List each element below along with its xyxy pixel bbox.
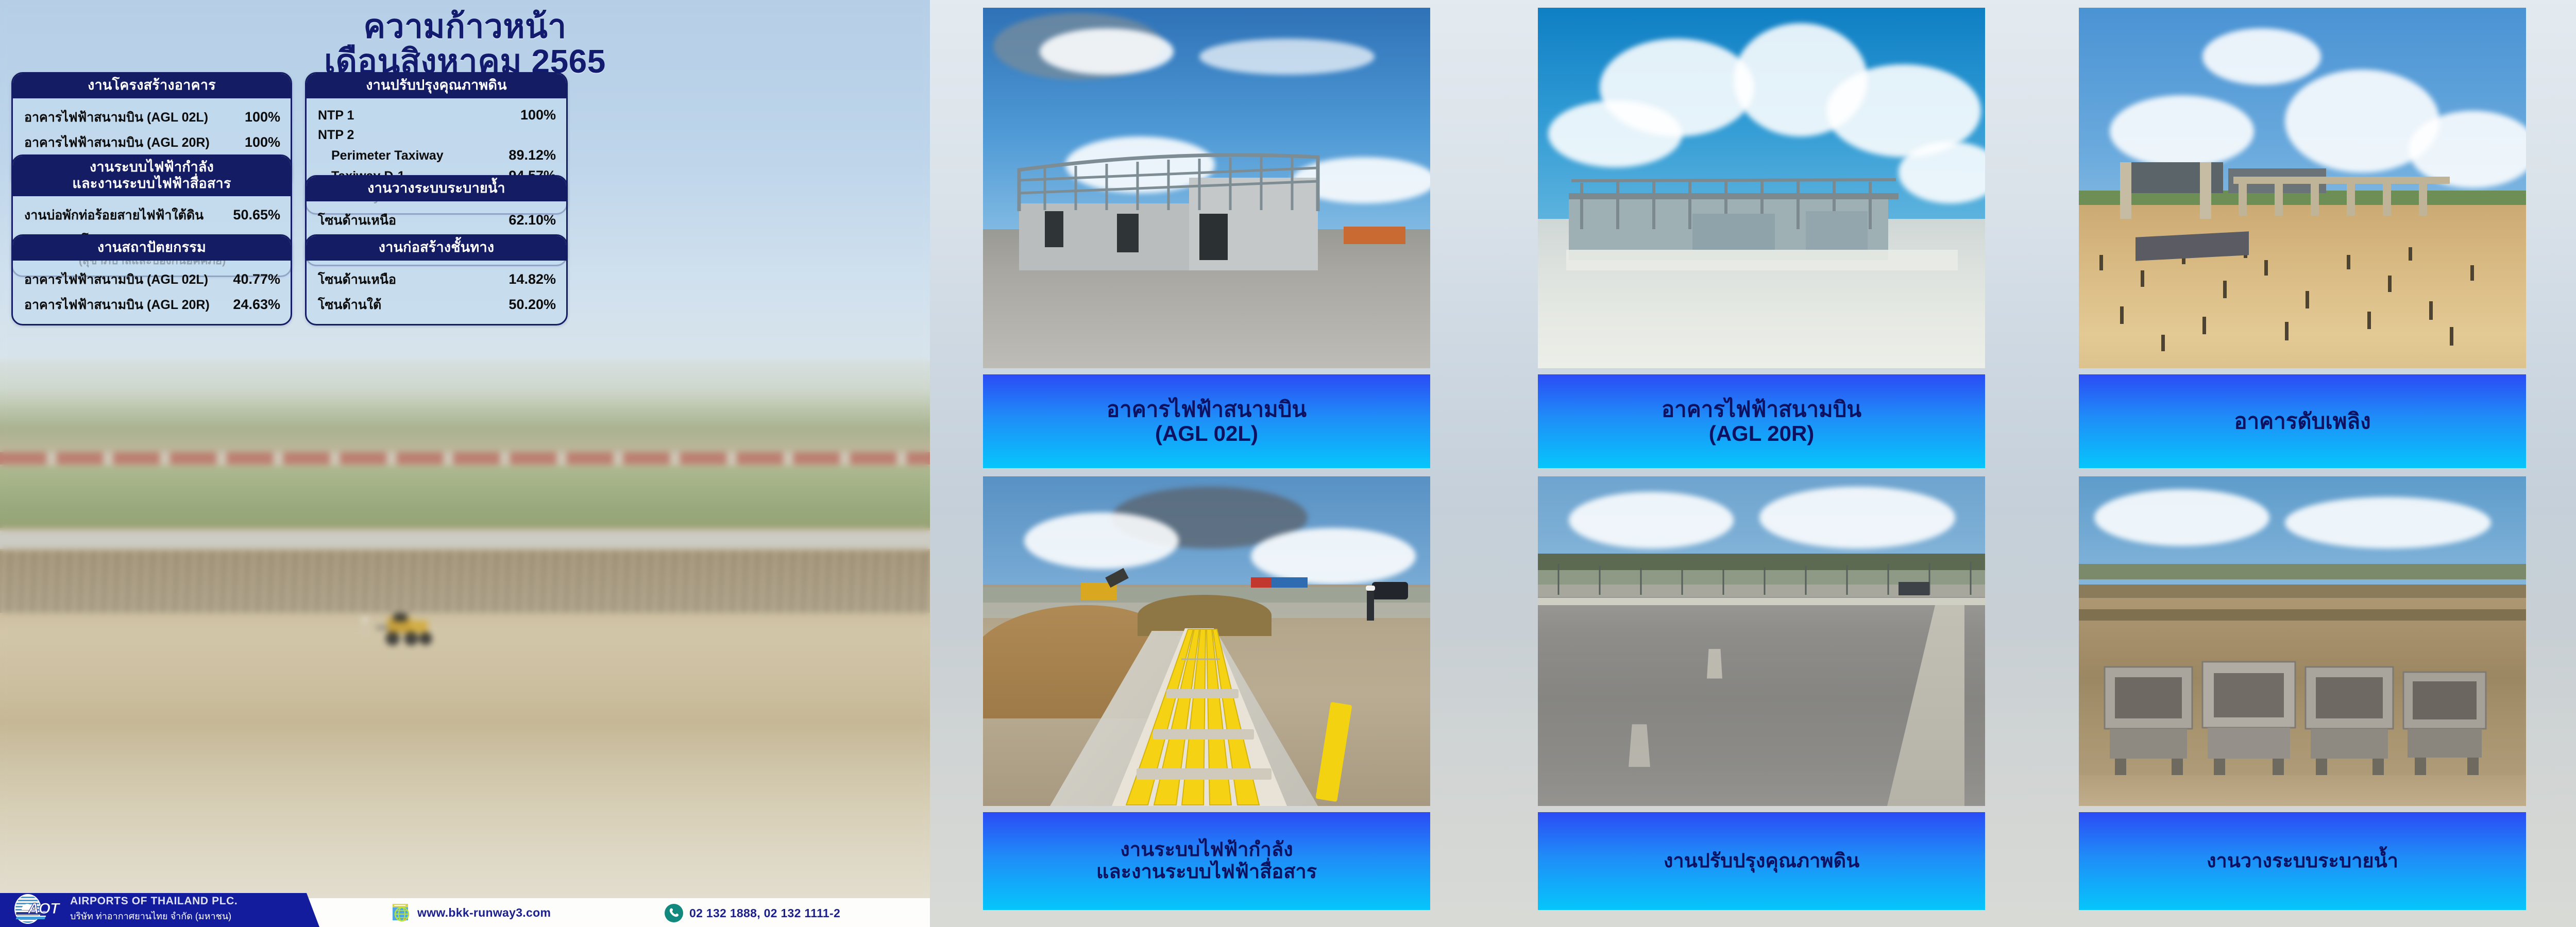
card-header-soil: งานปรับปรุงคุณภาพดิน bbox=[307, 74, 566, 98]
gallery-caption-power: งานระบบไฟฟ้ากำลัง และงานระบบไฟฟ้าสื่อสาร bbox=[983, 812, 1430, 910]
photo-soil bbox=[1538, 476, 1985, 806]
gallery-photo-agl20r[interactable] bbox=[1538, 8, 1985, 368]
caption-line-1: อาคารไฟฟ้าสนามบิน bbox=[1107, 397, 1307, 421]
table-row: อาคารไฟฟ้าสนามบิน (AGL 02L) 40.77% bbox=[24, 267, 280, 293]
table-row: NTP 1 100% bbox=[318, 105, 556, 126]
table-row: โซนด้านใต้ 50.20% bbox=[318, 293, 556, 318]
table-row: โซนด้านเหนือ 14.82% bbox=[318, 267, 556, 293]
photo-gallery-panel: อาคารไฟฟ้าสนามบิน (AGL 02L) bbox=[930, 0, 2576, 927]
table-row: โซนด้านเหนือ 62.10% bbox=[318, 208, 556, 233]
progress-infographic-poster: ความก้าวหน้า เดือนสิงหาคม 2565 งานโครงสร… bbox=[0, 0, 2576, 927]
caption-line-2: และงานระบบไฟฟ้าสื่อสาร bbox=[1096, 861, 1317, 883]
row-value: 50.20% bbox=[489, 297, 556, 313]
gallery-photo-drainage[interactable] bbox=[2079, 476, 2526, 806]
row-value: 24.63% bbox=[213, 297, 280, 313]
photo-agl20r bbox=[1538, 8, 1985, 368]
website-url: www.bkk-runway3.com bbox=[417, 906, 551, 920]
footer-website[interactable]: www.bkk-runway3.com bbox=[392, 903, 551, 922]
photo-power bbox=[983, 476, 1430, 806]
table-row: งานบ่อพักท่อร้อยสายไฟฟ้าใต้ดิน 50.65% bbox=[24, 203, 280, 228]
footer-phone[interactable]: 02 132 1888, 02 132 1111-2 bbox=[665, 904, 840, 922]
card-architecture: งานสถาปัตยกรรม อาคารไฟฟ้าสนามบิน (AGL 02… bbox=[11, 234, 292, 325]
row-label: โซนด้านใต้ bbox=[318, 295, 381, 315]
row-label: NTP 2 bbox=[318, 128, 354, 143]
phone-icon bbox=[665, 904, 683, 922]
card-pavement-construction: งานก่อสร้างชั้นทาง โซนด้านเหนือ 14.82% โ… bbox=[305, 234, 568, 325]
row-label: งานบ่อพักท่อร้อยสายไฟฟ้าใต้ดิน bbox=[24, 205, 204, 226]
card-header-power-line1: งานระบบไฟฟ้ากำลัง bbox=[18, 159, 285, 176]
card-body-architecture: อาคารไฟฟ้าสนามบิน (AGL 02L) 40.77% อาคาร… bbox=[13, 261, 291, 324]
row-label: Perimeter Taxiway bbox=[318, 148, 444, 163]
org-name-en: AIRPORTS OF THAILAND PLC. bbox=[70, 895, 238, 907]
aot-globe-icon: AOT bbox=[14, 894, 46, 924]
row-label: อาคารไฟฟ้าสนามบิน (AGL 20R) bbox=[24, 132, 210, 153]
card-header-architecture: งานสถาปัตยกรรม bbox=[13, 236, 291, 261]
row-value: 100% bbox=[489, 107, 556, 123]
caption-line-1: งานวางระบบระบายน้ำ bbox=[2207, 850, 2398, 872]
gallery-photo-firestation[interactable] bbox=[2079, 8, 2526, 368]
row-label: NTP 1 bbox=[318, 108, 354, 123]
card-header-structure: งานโครงสร้างอาคาร bbox=[13, 74, 291, 98]
row-label: โซนด้านเหนือ bbox=[318, 210, 396, 231]
photo-firestation bbox=[2079, 8, 2526, 368]
gallery-caption-drainage: งานวางระบบระบายน้ำ bbox=[2079, 812, 2526, 910]
gallery-caption-agl02l: อาคารไฟฟ้าสนามบิน (AGL 02L) bbox=[983, 374, 1430, 468]
card-header-power: งานระบบไฟฟ้ากำลัง และงานระบบไฟฟ้าสื่อสาร bbox=[13, 156, 291, 196]
row-value: 50.65% bbox=[213, 207, 280, 223]
gallery-caption-firestation: อาคารดับเพลิง bbox=[2079, 374, 2526, 468]
table-row: อาคารไฟฟ้าสนามบิน (AGL 20R) 24.63% bbox=[24, 293, 280, 318]
photo-agl02l bbox=[983, 8, 1430, 368]
row-value: 40.77% bbox=[213, 271, 280, 287]
caption-line-1: อาคารดับเพลิง bbox=[2234, 409, 2370, 433]
aot-logo-letters: AOT bbox=[28, 900, 59, 918]
row-value: 100% bbox=[213, 109, 280, 125]
caption-line-2: (AGL 20R) bbox=[1662, 421, 1861, 445]
page-title: ความก้าวหน้า เดือนสิงหาคม 2565 bbox=[0, 9, 930, 79]
caption-line-1: งานปรับปรุงคุณภาพดิน bbox=[1664, 850, 1859, 872]
gallery-photo-power[interactable] bbox=[983, 476, 1430, 806]
table-row: Perimeter Taxiway 89.12% bbox=[318, 145, 556, 166]
photo-drainage bbox=[2079, 476, 2526, 806]
card-header-power-line2: และงานระบบไฟฟ้าสื่อสาร bbox=[18, 176, 285, 192]
row-label: โซนด้านเหนือ bbox=[318, 269, 396, 290]
phone-number: 02 132 1888, 02 132 1111-2 bbox=[689, 906, 840, 920]
card-header-pavement: งานก่อสร้างชั้นทาง bbox=[307, 236, 566, 261]
footer-bar: AOT AIRPORTS OF THAILAND PLC. บริษัท ท่า… bbox=[0, 893, 930, 927]
caption-line-2: (AGL 02L) bbox=[1107, 421, 1307, 445]
row-value: 62.10% bbox=[489, 212, 556, 228]
aot-logo: AOT AIRPORTS OF THAILAND PLC. บริษัท ท่า… bbox=[14, 894, 238, 924]
caption-line-1: อาคารไฟฟ้าสนามบิน bbox=[1662, 397, 1861, 421]
title-line-1: ความก้าวหน้า bbox=[0, 9, 930, 44]
card-header-drainage: งานวางระบบระบายน้ำ bbox=[307, 177, 566, 201]
table-row: NTP 2 bbox=[318, 126, 556, 145]
left-data-panel: ความก้าวหน้า เดือนสิงหาคม 2565 งานโครงสร… bbox=[0, 0, 930, 927]
caption-line-1: งานระบบไฟฟ้ากำลัง bbox=[1096, 839, 1317, 861]
row-value: 14.82% bbox=[489, 271, 556, 287]
table-row: อาคารไฟฟ้าสนามบิน (AGL 02L) 100% bbox=[24, 105, 280, 130]
org-name-th: บริษัท ท่าอากาศยานไทย จำกัด (มหาชน) bbox=[70, 908, 238, 923]
card-body-pavement: โซนด้านเหนือ 14.82% โซนด้านใต้ 50.20% bbox=[307, 261, 566, 324]
gallery-caption-agl20r: อาคารไฟฟ้าสนามบิน (AGL 20R) bbox=[1538, 374, 1985, 468]
row-label: อาคารไฟฟ้าสนามบิน (AGL 02L) bbox=[24, 269, 208, 290]
gallery-photo-agl02l[interactable] bbox=[983, 8, 1430, 368]
row-value: 100% bbox=[213, 134, 280, 150]
table-row: อาคารไฟฟ้าสนามบิน (AGL 20R) 100% bbox=[24, 130, 280, 156]
row-label: อาคารไฟฟ้าสนามบิน (AGL 20R) bbox=[24, 295, 210, 315]
row-value: 89.12% bbox=[489, 147, 556, 163]
gallery-caption-soil: งานปรับปรุงคุณภาพดิน bbox=[1538, 812, 1985, 910]
gallery-photo-soil[interactable] bbox=[1538, 476, 1985, 806]
row-label: อาคารไฟฟ้าสนามบิน (AGL 02L) bbox=[24, 107, 208, 128]
website-icon bbox=[392, 903, 411, 922]
